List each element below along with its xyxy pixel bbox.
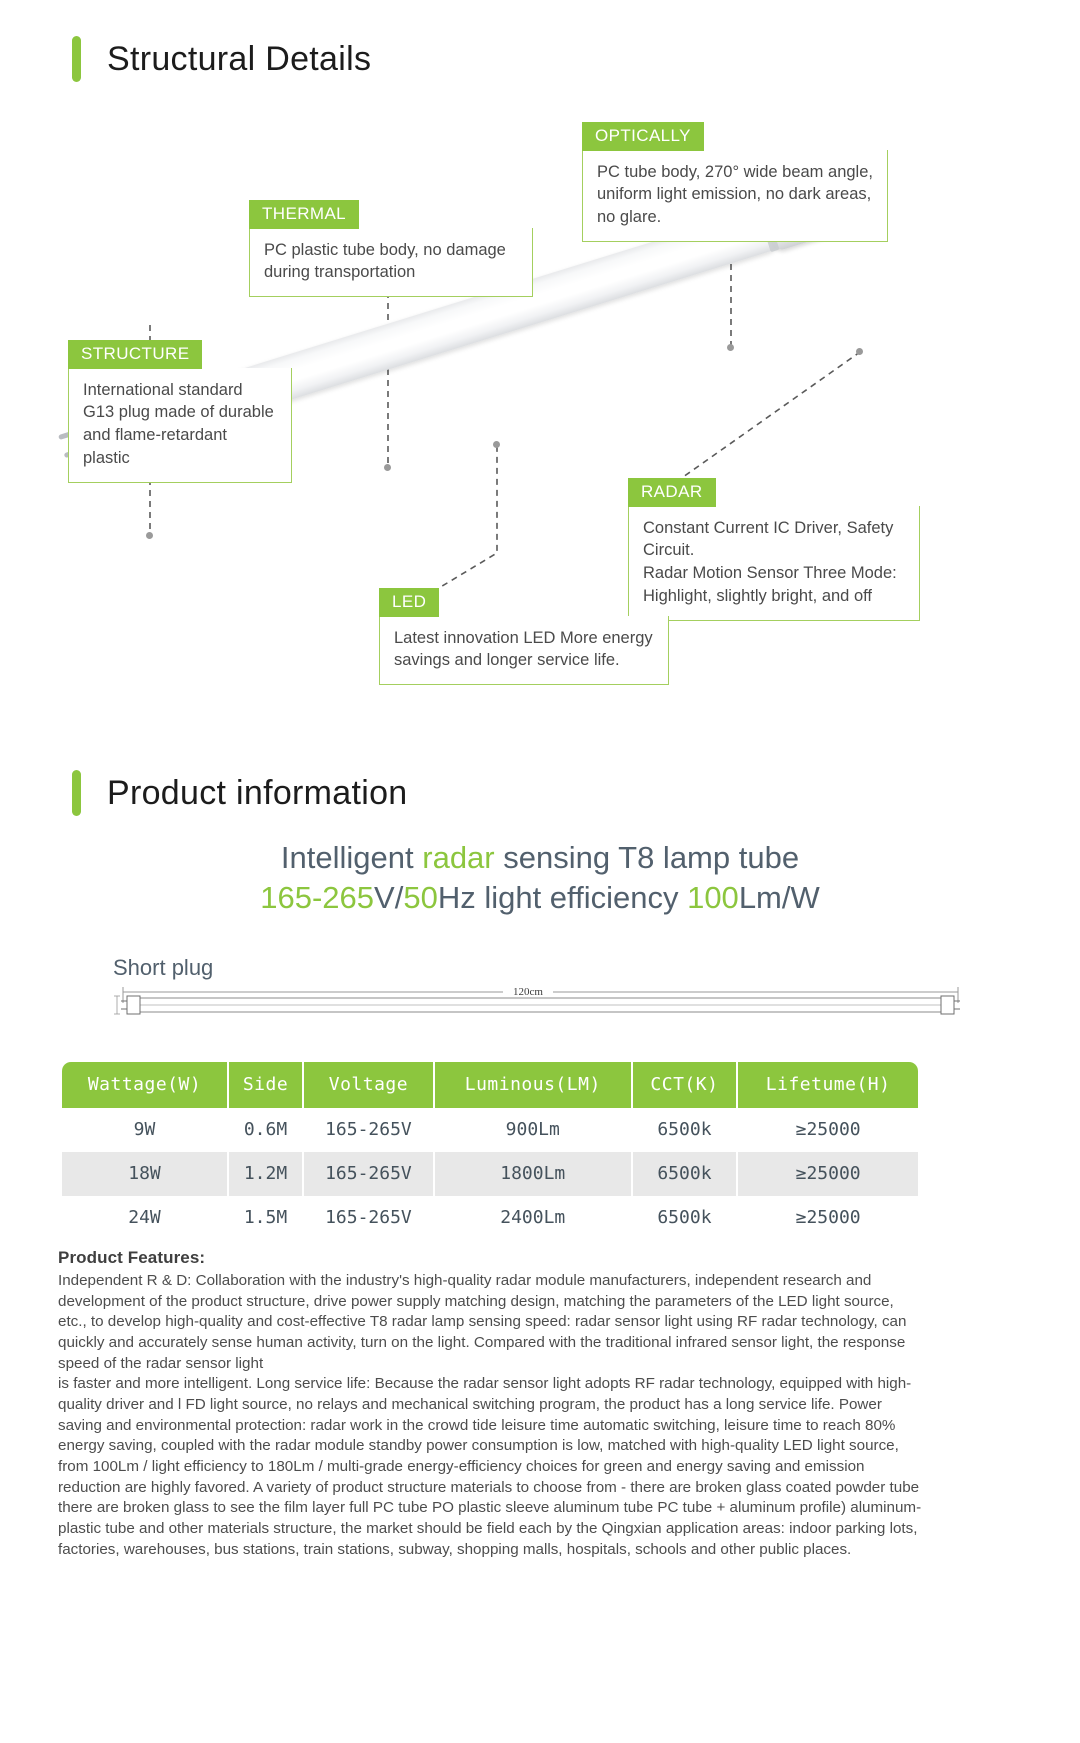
callout-body-structure: International standard G13 plug made of … [68, 368, 292, 483]
cell-luminous: 900Lm [435, 1108, 633, 1152]
section-title: Product information [107, 776, 408, 810]
product-information-heading: Product information [72, 770, 408, 816]
subtitle-highlight-radar: radar [422, 840, 494, 875]
table-header-row: Wattage(W) Side Voltage Luminous(LM) CCT… [62, 1062, 918, 1108]
cell-lifetime: ≥25000 [738, 1196, 918, 1240]
callout-text: International standard G13 plug made of … [83, 379, 277, 470]
product-subtitle-line2: 165-265V/50Hz light efficiency 100Lm/W [0, 878, 1080, 918]
callout-led: LED Latest innovation LED More energy sa… [379, 588, 669, 685]
features-paragraph-1: Independent R & D: Collaboration with th… [58, 1271, 924, 1374]
subtitle-text: V/ [374, 880, 403, 915]
callout-tag-led: LED [379, 588, 439, 617]
subtitle-text: Lm/W [739, 880, 820, 915]
subtitle-text: sensing T8 lamp tube [495, 840, 799, 875]
product-features-section: Product Features: Independent R & D: Col… [58, 1248, 924, 1560]
table-row: 24W 1.5M 165-265V 2400Lm 6500k ≥25000 [62, 1196, 918, 1240]
column-header-voltage: Voltage [304, 1062, 435, 1108]
subtitle-highlight-voltage: 165-265 [260, 880, 374, 915]
cell-wattage: 24W [62, 1196, 229, 1240]
cell-side: 0.6M [229, 1108, 304, 1152]
cell-voltage: 165-265V [304, 1108, 435, 1152]
callout-tag-thermal: THERMAL [249, 200, 359, 229]
callout-body-optically: PC tube body, 270° wide beam angle, unif… [582, 150, 888, 242]
callout-text: PC plastic tube body, no damage during t… [264, 239, 518, 285]
anchor-dot-structure [146, 532, 153, 539]
anchor-dot-thermal [384, 464, 391, 471]
cell-wattage: 18W [62, 1152, 229, 1196]
product-subtitle: Intelligent radar sensing T8 lamp tube 1… [0, 838, 1080, 919]
dimension-length-label: 120cm [513, 986, 543, 998]
callout-tag-optically: OPTICALLY [582, 122, 704, 151]
heading-accent-bar [72, 770, 81, 816]
cell-side: 1.5M [229, 1196, 304, 1240]
column-header-side: Side [229, 1062, 304, 1108]
subtitle-highlight-efficiency: 100 [687, 880, 739, 915]
short-plug-label: Short plug [113, 955, 213, 981]
specification-table: Wattage(W) Side Voltage Luminous(LM) CCT… [62, 1062, 918, 1240]
callout-body-led: Latest innovation LED More energy saving… [379, 616, 669, 686]
table-row: 9W 0.6M 165-265V 900Lm 6500k ≥25000 [62, 1108, 918, 1152]
anchor-dot-led [493, 441, 500, 448]
tube-dimension-drawing: 120cm [113, 983, 968, 1019]
table-row: 18W 1.2M 165-265V 1800Lm 6500k ≥25000 [62, 1152, 918, 1196]
cell-cct: 6500k [633, 1196, 739, 1240]
column-header-wattage: Wattage(W) [62, 1062, 229, 1108]
callout-text: Latest innovation LED More energy saving… [394, 627, 654, 673]
callout-thermal: THERMAL PC plastic tube body, no damage … [249, 200, 533, 297]
callout-radar: RADAR Constant Current IC Driver, Safety… [628, 478, 920, 621]
cell-lifetime: ≥25000 [738, 1152, 918, 1196]
callout-tag-structure: STRUCTURE [68, 340, 202, 369]
callout-body-radar: Constant Current IC Driver, Safety Circu… [628, 506, 920, 621]
cell-wattage: 9W [62, 1108, 229, 1152]
structural-diagram: OPTICALLY PC tube body, 270° wide beam a… [0, 100, 1080, 720]
heading-accent-bar [72, 36, 81, 82]
subtitle-highlight-frequency: 50 [403, 880, 437, 915]
structural-details-heading: Structural Details [72, 36, 371, 82]
features-paragraph-2: is faster and more intelligent. Long ser… [58, 1374, 924, 1560]
cell-voltage: 165-265V [304, 1196, 435, 1240]
callout-body-thermal: PC plastic tube body, no damage during t… [249, 228, 533, 298]
product-subtitle-line1: Intelligent radar sensing T8 lamp tube [0, 838, 1080, 878]
cell-side: 1.2M [229, 1152, 304, 1196]
column-header-lifetime: Lifetume(H) [738, 1062, 918, 1108]
cell-cct: 6500k [633, 1152, 739, 1196]
cell-lifetime: ≥25000 [738, 1108, 918, 1152]
callout-optically: OPTICALLY PC tube body, 270° wide beam a… [582, 122, 888, 242]
anchor-dot-optically [727, 344, 734, 351]
cell-luminous: 1800Lm [435, 1152, 633, 1196]
anchor-dot-radar [856, 348, 863, 355]
cell-luminous: 2400Lm [435, 1196, 633, 1240]
cell-cct: 6500k [633, 1108, 739, 1152]
subtitle-text: Intelligent [281, 840, 422, 875]
features-heading: Product Features: [58, 1248, 924, 1268]
column-header-luminous: Luminous(LM) [435, 1062, 633, 1108]
cell-voltage: 165-265V [304, 1152, 435, 1196]
callout-text: PC tube body, 270° wide beam angle, unif… [597, 161, 873, 229]
column-header-cct: CCT(K) [633, 1062, 739, 1108]
callout-tag-radar: RADAR [628, 478, 716, 507]
page-title: Structural Details [107, 42, 371, 76]
callout-text: Constant Current IC Driver, Safety Circu… [643, 517, 905, 608]
callout-structure: STRUCTURE International standard G13 plu… [68, 340, 292, 483]
subtitle-text: Hz light efficiency [438, 880, 687, 915]
